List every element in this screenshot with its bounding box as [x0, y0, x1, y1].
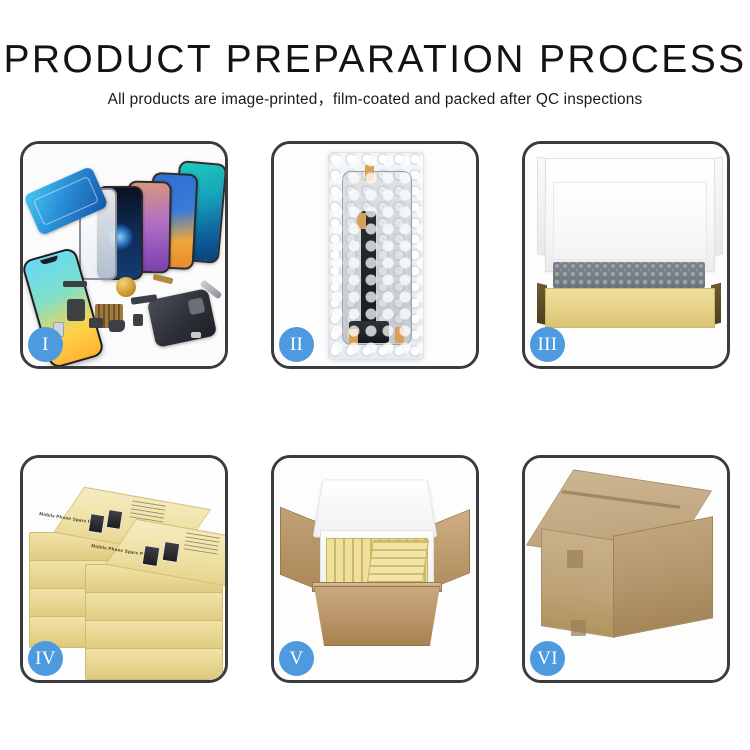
foam-lid [313, 480, 438, 538]
kraft-box-front [545, 288, 715, 328]
box-window-phone-c [142, 545, 161, 567]
button-part [109, 320, 125, 332]
box-window-phone-b [106, 509, 124, 530]
bubble-texture-overlay [329, 153, 423, 359]
carton-right-face [613, 516, 713, 637]
retail-boxes-in-carton-secondary [367, 540, 429, 582]
step-panel-1[interactable]: I [20, 141, 228, 369]
bubble-wrap-package [328, 152, 424, 360]
step-badge-4: IV [28, 641, 63, 676]
step-panel-2[interactable]: II [271, 141, 479, 369]
sim-tray-part [133, 314, 143, 326]
carton-front-panel [314, 586, 440, 646]
step-badge-1: I [28, 327, 63, 362]
step-badge-2: II [279, 327, 314, 362]
camera-module-part [67, 299, 85, 321]
step-panel-4[interactable]: Mobile Phone Spare Parts Mobile Phone Sp… [20, 455, 228, 683]
step-panel-6[interactable]: VI [522, 455, 730, 683]
step-badge-3: III [530, 327, 565, 362]
retail-box-stack: Mobile Phone Spare Parts Mobile Phone Sp… [27, 474, 225, 670]
step-badge-6: VI [530, 641, 565, 676]
step-panel-3[interactable]: III [522, 141, 730, 369]
screw-part [191, 332, 201, 338]
step-badge-5: V [279, 641, 314, 676]
carton-tape-upper [567, 550, 583, 568]
retail-box [85, 648, 223, 680]
foam-sheet [553, 182, 707, 260]
speaker-component [116, 277, 136, 297]
box-window-phone-d [162, 541, 181, 563]
bubble-wrap-contents [553, 262, 705, 288]
carton-tape-lower [571, 620, 586, 636]
process-steps-grid: I II III [0, 141, 750, 683]
page-header: PRODUCT PREPARATION PROCESS All products… [0, 0, 750, 111]
step-panel-5[interactable]: V [271, 455, 479, 683]
page-subtitle: All products are image-printed，film-coat… [0, 89, 750, 111]
connector-part [89, 318, 103, 328]
box-window-phone-a [88, 513, 106, 534]
flex-cable-part [63, 281, 87, 287]
page-title: PRODUCT PREPARATION PROCESS [0, 38, 750, 82]
